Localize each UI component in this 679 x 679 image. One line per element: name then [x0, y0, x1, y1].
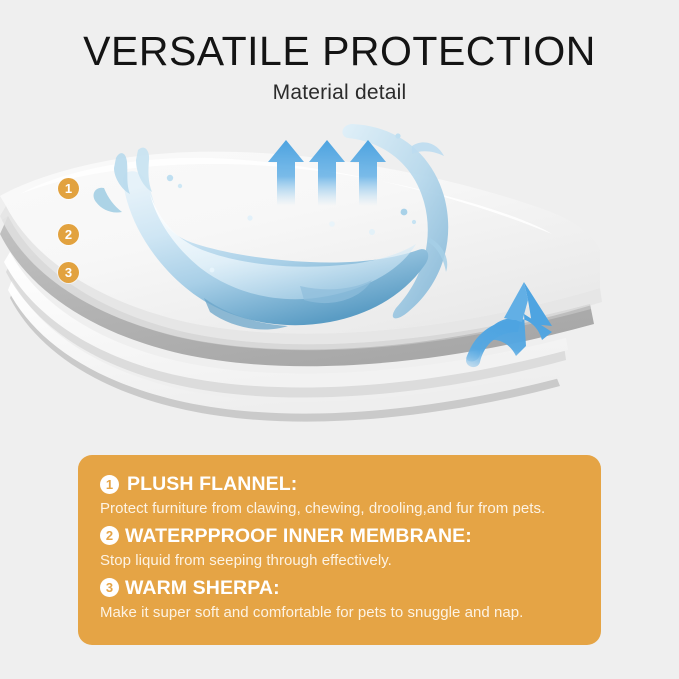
features-info-panel: 1 PLUSH FLANNEL: Protect furniture from … — [78, 455, 601, 645]
feature-heading-row: 3 WARM SHERPA: — [100, 575, 579, 601]
page-subtitle: Material detail — [0, 81, 679, 105]
feature-body-text: Make it super soft and comfortable for p… — [100, 602, 579, 625]
feature-heading-row: 1 PLUSH FLANNEL: — [100, 471, 579, 497]
feature-heading-row: 2 WATERPPROOF INNER MEMBRANE: — [100, 523, 579, 549]
layer-badge-2: 2 — [58, 224, 79, 245]
layer-badge-3: 3 — [58, 262, 79, 283]
feature-heading-text: PLUSH FLANNEL: — [127, 471, 297, 497]
page-title: VERSATILE PROTECTION — [0, 28, 679, 75]
feature-heading-text: WATERPPROOF INNER MEMBRANE: — [125, 523, 472, 549]
feature-heading-text: WARM SHERPA: — [125, 575, 280, 601]
feature-number-badge: 1 — [100, 475, 119, 494]
upward-arrows-group — [268, 140, 386, 206]
feature-item: 1 PLUSH FLANNEL: Protect furniture from … — [100, 471, 579, 521]
feature-item: 3 WARM SHERPA: Make it super soft and co… — [100, 575, 579, 625]
feature-body-text: Protect furniture from clawing, chewing,… — [100, 498, 579, 521]
layer-badge-1: 1 — [58, 178, 79, 199]
feature-number-badge: 3 — [100, 578, 119, 597]
material-layers-illustration — [0, 110, 679, 440]
feature-number-badge: 2 — [100, 526, 119, 545]
feature-body-text: Stop liquid from seeping through effecti… — [100, 550, 579, 573]
infographic-page: VERSATILE PROTECTION Material detail — [0, 0, 679, 679]
feature-item: 2 WATERPPROOF INNER MEMBRANE: Stop liqui… — [100, 523, 579, 573]
